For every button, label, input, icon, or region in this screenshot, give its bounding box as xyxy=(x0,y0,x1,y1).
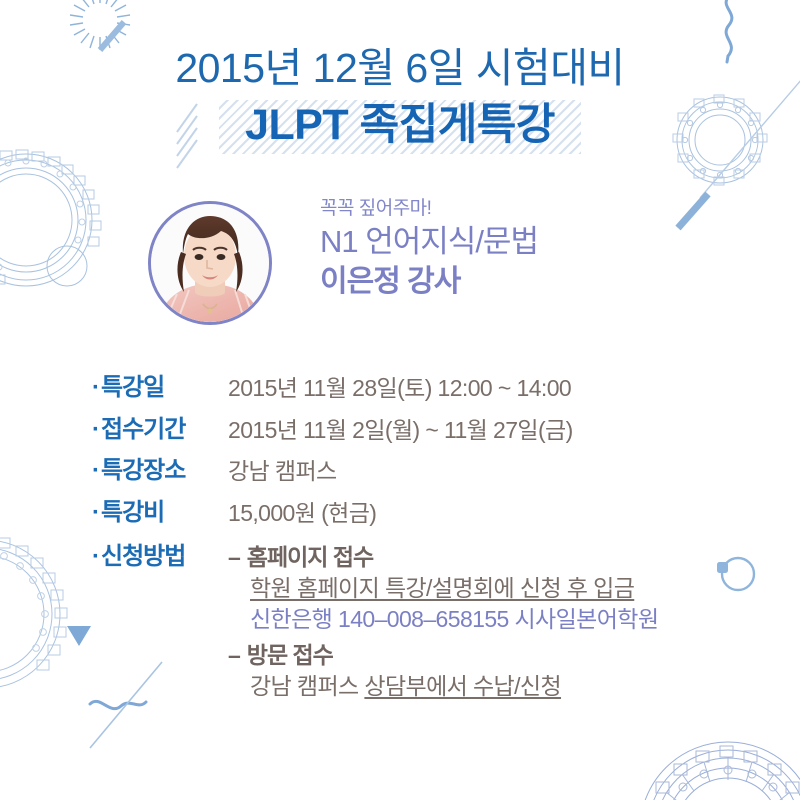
apply-method-2-detail: 강남 캠퍼스 상담부에서 수납/신청 xyxy=(250,671,782,703)
dash-icon: – xyxy=(228,544,240,570)
apply-method-2-detail-underlined: 상담부에서 수납/신청 xyxy=(364,673,561,699)
instructor-text: 꼭꼭 짚어주마! N1 언어지식/문법 이은정 강사 xyxy=(320,197,538,300)
bullet-icon: · xyxy=(92,372,99,404)
detail-label-text: 신청방법 xyxy=(101,543,185,570)
detail-label: ·특강일 xyxy=(92,372,228,404)
headline-banner: JLPT 족집게특강 xyxy=(219,98,581,157)
triangle-marker-icon xyxy=(64,624,94,650)
apply-method-1-detail-1: 학원 홈페이지 특강/설명회에 신청 후 입금 xyxy=(250,573,782,605)
apply-method-2-detail-plain: 강남 캠퍼스 xyxy=(250,673,364,699)
detail-row-fee: ·특강비 15,000원 (현금) xyxy=(92,497,782,529)
instructor-tagline: 꼭꼭 짚어주마! xyxy=(320,197,538,222)
detail-label: ·특강비 xyxy=(92,497,228,529)
ring-pattern-icon xyxy=(0,148,114,308)
bullet-icon: · xyxy=(92,414,99,446)
detail-label: ·특강장소 xyxy=(92,455,228,487)
bullet-icon: · xyxy=(92,455,99,487)
headline-block: 2015년 12월 6일 시험대비 JLPT 족집게특강 xyxy=(0,44,800,158)
poster-canvas: 2015년 12월 6일 시험대비 JLPT 족집게특강 xyxy=(0,0,800,800)
detail-value: 2015년 11월 28일(토) 12:00 ~ 14:00 xyxy=(228,372,782,403)
detail-row-registration-period: ·접수기간 2015년 11월 2일(월) ~ 11월 27일(금) xyxy=(92,414,782,446)
instructor-block: 꼭꼭 짚어주마! N1 언어지식/문법 이은정 강사 xyxy=(148,197,748,347)
detail-label-text: 접수기간 xyxy=(101,416,185,443)
apply-method-2-label: 방문 접수 xyxy=(247,642,333,668)
dash-icon: – xyxy=(228,642,240,668)
bullet-icon: · xyxy=(92,497,99,529)
bullet-icon: · xyxy=(92,541,99,573)
detail-label-text: 특강장소 xyxy=(101,457,185,484)
detail-label-text: 특강비 xyxy=(101,499,164,526)
instructor-avatar xyxy=(148,201,272,325)
apply-method-2-heading: –방문 접수 xyxy=(228,640,782,671)
detail-label: ·접수기간 xyxy=(92,414,228,446)
detail-row-lecture-date: ·특강일 2015년 11월 28일(토) 12:00 ~ 14:00 xyxy=(92,372,782,404)
detail-value: 강남 캠퍼스 xyxy=(228,455,782,486)
apply-method-1-heading: –홈페이지 접수 xyxy=(228,542,782,573)
apply-methods: –홈페이지 접수 학원 홈페이지 특강/설명회에 신청 후 입금 신한은행 14… xyxy=(228,541,782,703)
detail-row-location: ·특강장소 강남 캠퍼스 xyxy=(92,455,782,487)
instructor-name: 이은정 강사 xyxy=(320,263,538,300)
detail-label-text: 특강일 xyxy=(101,374,164,401)
detail-value: 2015년 11월 2일(월) ~ 11월 27일(금) xyxy=(228,414,782,445)
detail-row-apply-method: ·신청방법 –홈페이지 접수 학원 홈페이지 특강/설명회에 신청 후 입금 신… xyxy=(92,541,782,703)
headline-line-1: 2015년 12월 6일 시험대비 xyxy=(0,44,800,92)
apply-method-1-label: 홈페이지 접수 xyxy=(247,544,373,570)
detail-value: 15,000원 (현금) xyxy=(228,497,782,528)
detail-label: ·신청방법 xyxy=(92,541,228,573)
instructor-course: N1 언어지식/문법 xyxy=(320,223,538,261)
details-list: ·특강일 2015년 11월 28일(토) 12:00 ~ 14:00 ·접수기… xyxy=(92,372,782,713)
mandala-ring-icon xyxy=(628,718,800,800)
headline-line-2: JLPT 족집게특강 xyxy=(245,102,555,149)
instructor-photo xyxy=(151,204,269,322)
apply-method-1-bank-account: 신한은행 140–008–658155 시사일본어학원 xyxy=(250,604,782,636)
